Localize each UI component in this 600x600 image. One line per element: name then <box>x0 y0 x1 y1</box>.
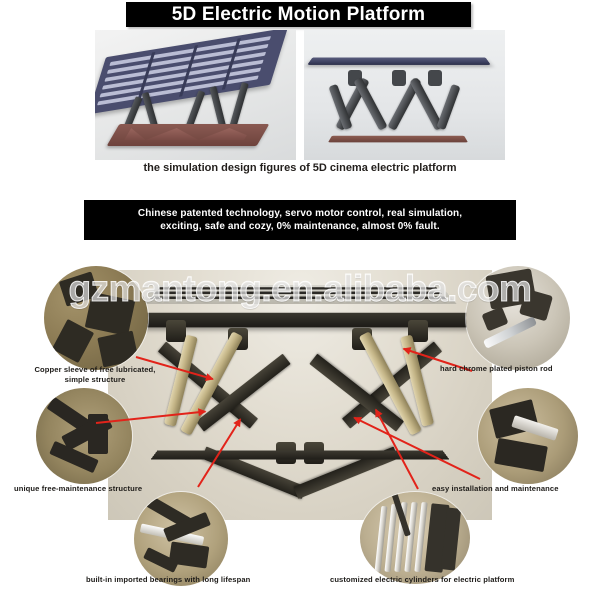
platform-deck <box>139 285 457 304</box>
inset-free-maintenance <box>36 388 132 484</box>
tilted-platform-render <box>95 30 296 160</box>
label-electric-cylinders: customized electric cylinders for electr… <box>330 575 514 585</box>
label-bearings: built-in imported bearings with long lif… <box>86 575 250 585</box>
feature-text-box: Chinese patented technology, servo motor… <box>84 200 516 240</box>
feature-line-1: Chinese patented technology, servo motor… <box>138 208 462 219</box>
product-marketing-image: 5D Electric Motion Platform <box>0 0 600 600</box>
cad-render-panel <box>95 30 505 160</box>
render-deck-side <box>307 57 490 64</box>
side-platform-render <box>304 30 505 160</box>
inset-electric-cylinders <box>360 492 470 584</box>
renders-caption: the simulation design figures of 5D cine… <box>0 162 600 174</box>
label-piston-rod: hard chrome plated piston rod <box>440 364 553 374</box>
photo-collage: Copper sleeve of free lubricated, simple… <box>0 252 600 600</box>
inset-bearings <box>134 492 228 586</box>
feature-line-2: exciting, safe and cozy, 0% maintenance,… <box>160 221 440 232</box>
label-copper-sleeve: Copper sleeve of free lubricated, simple… <box>10 365 180 386</box>
platform-base <box>151 451 450 460</box>
page-title: 5D Electric Motion Platform <box>172 4 426 26</box>
inset-piston-rod <box>466 266 570 370</box>
render-deck <box>95 30 288 114</box>
label-free-maintenance: unique free-maintenance structure <box>14 484 142 494</box>
title-banner: 5D Electric Motion Platform <box>126 2 471 27</box>
render-base-side <box>328 136 468 143</box>
render-base <box>107 124 270 146</box>
main-product-photo <box>108 270 492 520</box>
inset-easy-installation <box>478 388 578 484</box>
inset-copper-sleeve <box>44 266 148 370</box>
